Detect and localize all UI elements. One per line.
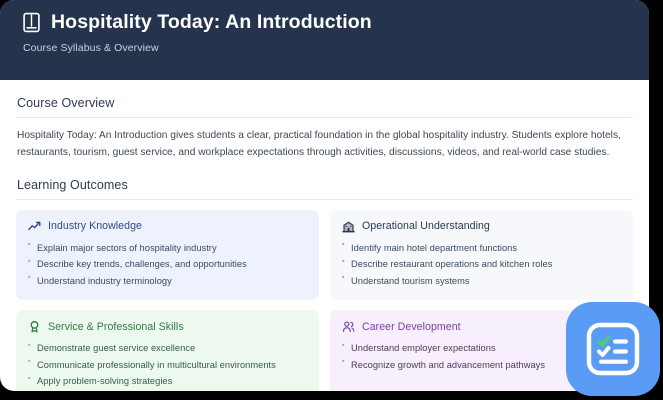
users-icon [342,320,355,333]
list-item: Demonstrate guest service excellence [28,340,307,357]
page-header: Hospitality Today: An Introduction Cours… [0,0,649,80]
card-title: Industry Knowledge [48,220,142,232]
overview-divider [16,117,633,118]
list-item: Explain major sectors of hospitality ind… [28,240,307,257]
course-overview-heading: Course Overview [17,96,633,110]
list-item: Describe key trends, challenges, and opp… [28,256,307,273]
hotel-building-icon [342,220,355,233]
card-header: Industry Knowledge [28,220,307,233]
screen: Hospitality Today: An Introduction Cours… [0,0,663,400]
card-header: Service & Professional Skills [28,320,307,333]
app-badge[interactable] [566,302,660,396]
list-item: Identify main hotel department functions [342,240,621,257]
card-header: Operational Understanding [342,220,621,233]
list-item: Communicate professionally in multicultu… [28,357,307,374]
book-icon [22,12,41,33]
outcome-card-service-professional-skills[interactable]: Service & Professional Skills Demonstrat… [16,310,319,391]
list-item: Describe restaurant operations and kitch… [342,256,621,273]
page-title: Hospitality Today: An Introduction [51,12,372,33]
card-title: Service & Professional Skills [48,321,184,333]
header-subtitle: Course Syllabus & Overview [23,42,627,54]
card-title: Operational Understanding [362,220,490,232]
list-item: Understand industry terminology [28,273,307,290]
award-icon [28,320,41,333]
card-bullet-list: Identify main hotel department functions… [342,240,621,290]
outcome-card-industry-knowledge[interactable]: Industry Knowledge Explain major sectors… [16,210,319,301]
card-bullet-list: Demonstrate guest service excellence Com… [28,340,307,390]
page-body: Course Overview Hospitality Today: An In… [0,80,649,391]
course-overview-text: Hospitality Today: An Introduction gives… [17,128,633,162]
outcomes-divider [16,199,633,200]
list-item: Apply problem-solving strategies [28,373,307,390]
list-item: Understand tourism systems [342,273,621,290]
learning-outcomes-heading: Learning Outcomes [17,178,633,192]
checklist-icon [584,320,642,378]
card-bullet-list: Explain major sectors of hospitality ind… [28,240,307,290]
app-window: Hospitality Today: An Introduction Cours… [0,0,649,391]
card-title: Career Development [362,321,461,333]
outcomes-grid: Industry Knowledge Explain major sectors… [16,210,633,391]
trending-up-icon [28,220,41,233]
outcome-card-operational-understanding[interactable]: Operational Understanding Identify main … [330,210,633,301]
header-title-row: Hospitality Today: An Introduction [22,0,627,33]
